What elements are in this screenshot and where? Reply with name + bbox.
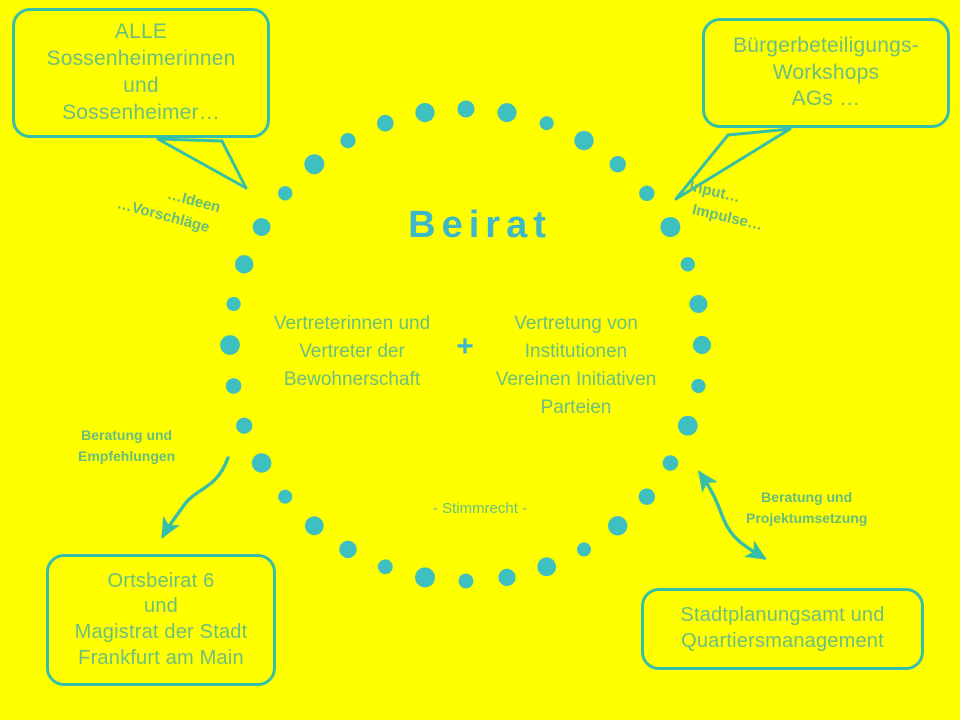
box-line: Frankfurt am Main	[78, 646, 244, 672]
ring-dot	[610, 156, 626, 172]
speech-bubble-buergerbeteiligung[interactable]: Bürgerbeteiligungs- Workshops AGs …	[702, 18, 950, 128]
box-line: Stadtplanungsamt und	[680, 603, 884, 629]
ring-dot	[252, 453, 272, 473]
ring-column-left: Vertreterinnen und Vertreter der Bewohne…	[262, 310, 442, 394]
bubble-line: Sossenheimer…	[62, 100, 220, 127]
ring-dot	[681, 257, 695, 271]
bubble-line: AGs …	[792, 86, 861, 113]
ring-dot	[305, 516, 324, 535]
column-line: Bewohnerschaft	[284, 369, 420, 390]
box-line: Magistrat der Stadt	[75, 620, 248, 646]
plus-icon: +	[440, 330, 490, 364]
column-line: Parteien	[541, 397, 612, 418]
ring-dot	[498, 569, 515, 586]
column-line: der	[377, 341, 404, 362]
speech-tail-top-left	[158, 139, 246, 188]
ring-dot	[639, 186, 654, 201]
ring-dot	[339, 541, 356, 558]
flow-label-line: Beratung und	[746, 487, 867, 508]
ring-dot	[227, 297, 241, 311]
bubble-line: ALLE	[115, 19, 167, 46]
ring-dot	[678, 416, 698, 436]
ring-dot	[540, 116, 554, 130]
flow-label-line: Beratung und	[78, 425, 175, 446]
column-line: von	[607, 313, 638, 334]
column-line: Vertretung	[514, 313, 602, 334]
column-line: Initiativen	[576, 369, 656, 390]
box-stadtplanungsamt-quartiersmanagement[interactable]: Stadtplanungsamt und Quartiersmanagement	[641, 588, 924, 670]
ring-dot	[663, 455, 679, 471]
column-line: Vertreterinnen	[274, 313, 393, 334]
ring-dot	[340, 133, 355, 148]
speech-bubble-alle-sossenheimer[interactable]: ALLE Sossenheimerinnen und Sossenheimer…	[12, 8, 270, 138]
column-line: Institutionen	[525, 341, 627, 362]
box-line: und	[144, 594, 178, 620]
flow-label-line: Empfehlungen	[78, 446, 175, 467]
bubble-line: und	[123, 73, 159, 100]
box-line: Ortsbeirat 6	[108, 569, 215, 595]
ring-dot	[226, 378, 242, 394]
ring-dot	[236, 418, 252, 434]
ring-dot	[574, 131, 593, 150]
ring-dot	[693, 336, 711, 354]
ring-dot	[278, 186, 292, 200]
ring-dot	[577, 542, 591, 556]
ring-dot	[235, 255, 253, 273]
ring-dot	[537, 557, 556, 576]
ring-dot	[415, 567, 435, 587]
ring-dot	[378, 559, 393, 574]
box-ortsbeirat-magistrat[interactable]: Ortsbeirat 6 und Magistrat der Stadt Fra…	[46, 554, 276, 686]
ring-dot	[377, 115, 394, 132]
ring-dot	[691, 379, 705, 393]
flow-label-line: Projektumsetzung	[746, 508, 867, 529]
ring-column-right: Vertretung von Institutionen Vereinen In…	[486, 310, 666, 422]
bubble-line: Workshops	[773, 60, 879, 87]
column-line: Vereinen	[496, 369, 571, 390]
diagram-canvas: ALLE Sossenheimerinnen und Sossenheimer……	[0, 0, 960, 720]
ring-dot	[304, 154, 324, 174]
ring-dot	[458, 101, 475, 118]
ring-dot	[459, 574, 474, 589]
bubble-line: Sossenheimerinnen	[46, 46, 235, 73]
ring-dot	[608, 516, 627, 535]
arrow-beratung-empfehlungen	[163, 458, 228, 536]
ring-dot	[689, 295, 707, 313]
bubble-line: Bürgerbeteiligungs-	[733, 33, 919, 60]
ring-dot	[498, 103, 517, 122]
ring-dot	[220, 335, 240, 355]
flow-label-beratung-projektumsetzung: Beratung und Projektumsetzung	[746, 487, 867, 529]
flow-label-beratung-empfehlungen: Beratung und Empfehlungen	[78, 425, 175, 467]
box-line: Quartiersmanagement	[681, 629, 884, 655]
ring-dot	[415, 103, 434, 122]
